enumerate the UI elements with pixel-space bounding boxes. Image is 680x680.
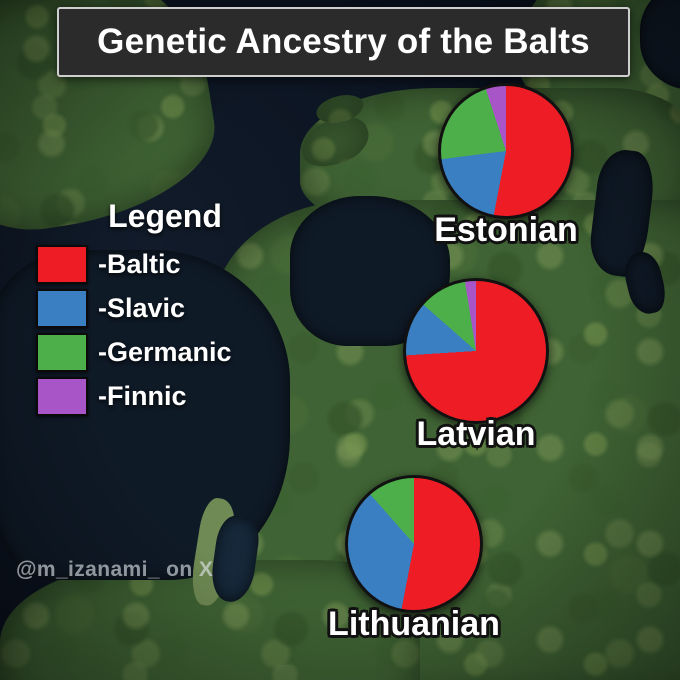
pie-lithuanian-disc bbox=[345, 475, 483, 613]
legend-swatch-slavic bbox=[36, 289, 88, 328]
pie-latvian-disc bbox=[403, 278, 549, 424]
page-title: Genetic Ancestry of the Balts bbox=[97, 22, 590, 62]
legend-label-germanic: -Germanic bbox=[98, 337, 232, 368]
infographic-canvas: Genetic Ancestry of the Balts Legend -Ba… bbox=[0, 0, 680, 680]
pie-lithuanian-label: Lithuanian bbox=[328, 605, 500, 644]
pie-chart-estonian: Estonian bbox=[438, 83, 574, 219]
pie-estonian-label: Estonian bbox=[434, 211, 578, 250]
legend-swatch-germanic bbox=[36, 333, 88, 372]
legend-item-slavic: -Slavic bbox=[36, 289, 266, 328]
legend-item-baltic: -Baltic bbox=[36, 245, 266, 284]
legend-label-baltic: -Baltic bbox=[98, 249, 181, 280]
legend: Legend -Baltic -Slavic -Germanic -Finnic bbox=[36, 198, 266, 421]
watermark: @m_izanami_ on X bbox=[16, 558, 213, 582]
legend-heading: Legend bbox=[64, 198, 266, 235]
pie-latvian-label: Latvian bbox=[416, 415, 535, 454]
legend-swatch-baltic bbox=[36, 245, 88, 284]
pie-chart-latvian: Latvian bbox=[403, 278, 549, 424]
legend-item-finnic: -Finnic bbox=[36, 377, 266, 416]
legend-label-finnic: -Finnic bbox=[98, 381, 187, 412]
pie-chart-lithuanian: Lithuanian bbox=[345, 475, 483, 613]
pie-estonian-disc bbox=[438, 83, 574, 219]
legend-item-germanic: -Germanic bbox=[36, 333, 266, 372]
legend-label-slavic: -Slavic bbox=[98, 293, 185, 324]
legend-swatch-finnic bbox=[36, 377, 88, 416]
title-banner: Genetic Ancestry of the Balts bbox=[57, 7, 630, 77]
